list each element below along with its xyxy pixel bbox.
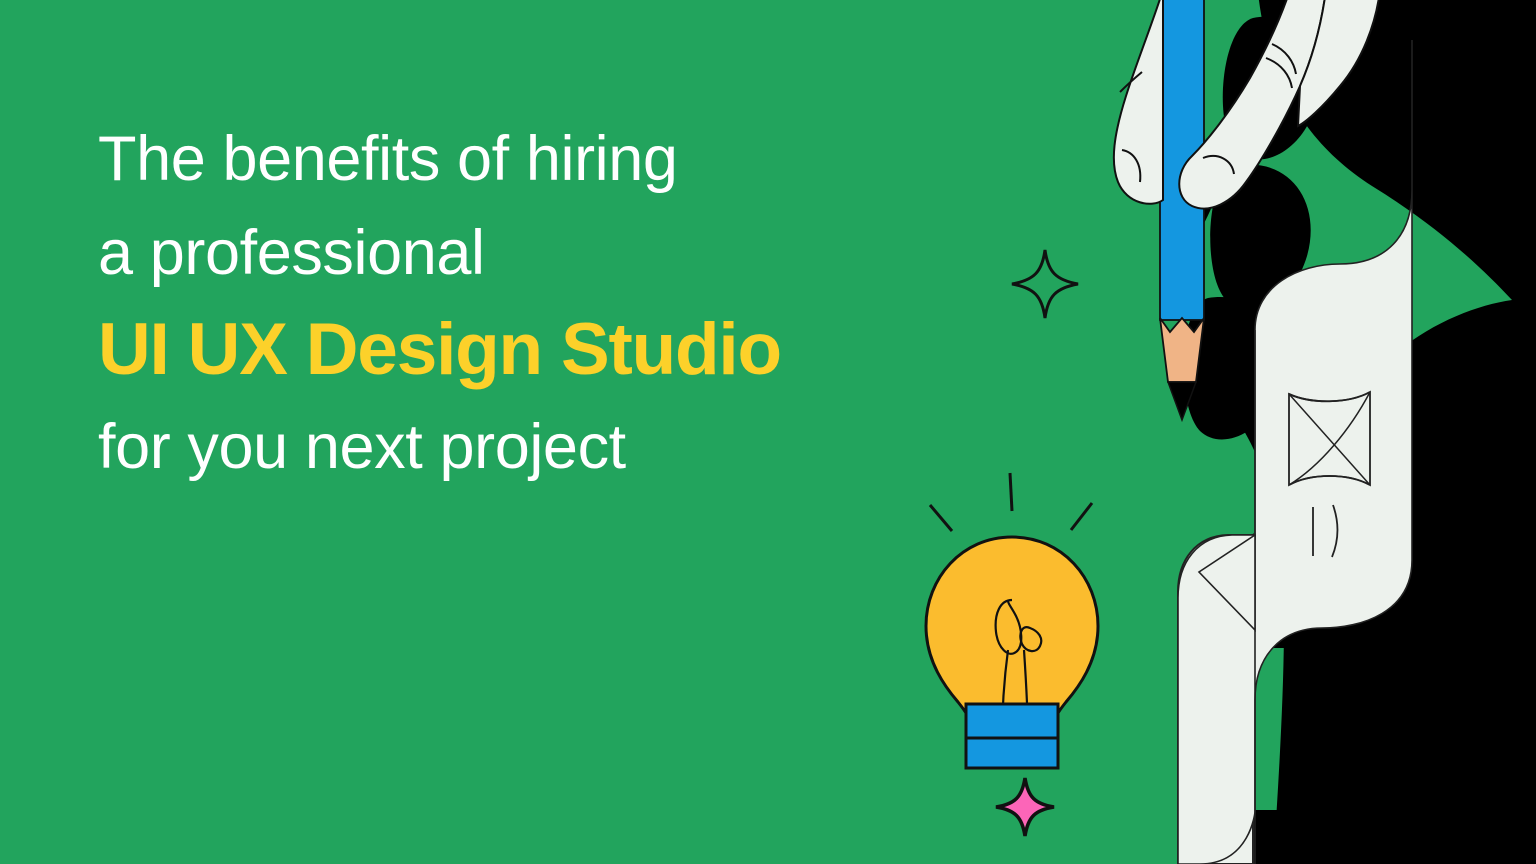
- headline-block: The benefits of hiring a professional UI…: [98, 112, 1098, 494]
- promo-banner: The benefits of hiring a professional UI…: [0, 0, 1536, 864]
- headline-line-accent: UI UX Design Studio: [98, 300, 1098, 400]
- headline-line-2: a professional: [98, 206, 1098, 300]
- pencil-wood: [1160, 318, 1204, 382]
- bulb-base-upper: [966, 704, 1058, 738]
- headline-line-1: The benefits of hiring: [98, 112, 1098, 206]
- bulb-base-lower: [966, 738, 1058, 768]
- headline-line-4: for you next project: [98, 400, 1098, 494]
- pencil: [1160, 0, 1204, 420]
